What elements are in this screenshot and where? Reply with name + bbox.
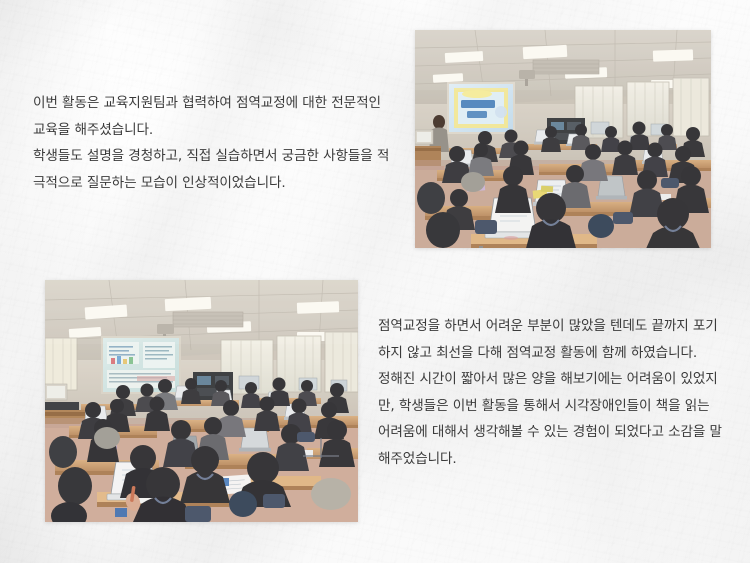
paper-page: 이번 활동은 교육지원팀과 협력하여 점역교정에 대한 전문적인 교육을 해주셨… <box>0 0 750 563</box>
practice-photo-graphic <box>45 280 358 522</box>
lecture-photo <box>415 30 711 248</box>
intro-paragraph: 이번 활동은 교육지원팀과 협력하여 점역교정에 대한 전문적인 교육을 해주셨… <box>33 90 393 196</box>
reflection-paragraph: 점역교정을 하면서 어려운 부분이 많았을 텐데도 끝까지 포기하지 않고 최선… <box>378 313 726 472</box>
lecture-photo-graphic <box>415 30 711 248</box>
practice-photo <box>45 280 358 522</box>
